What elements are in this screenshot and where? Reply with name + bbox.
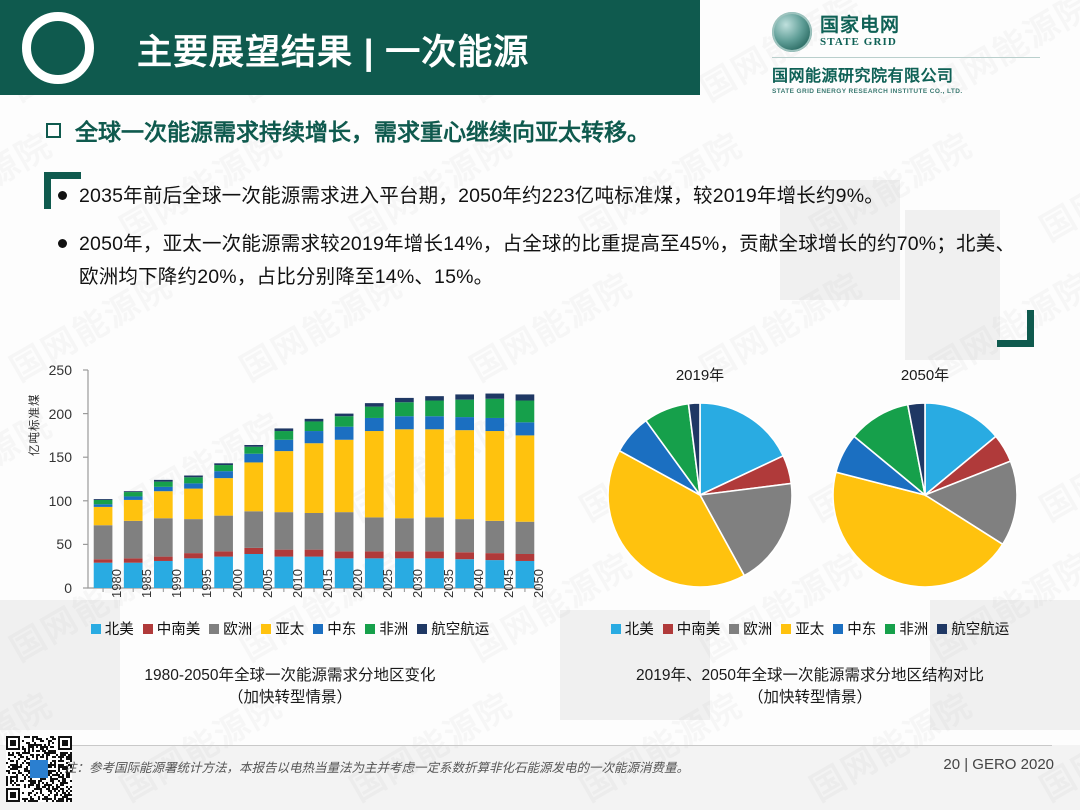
bar-segment-亚太: [365, 431, 384, 517]
bar-segment-欧洲: [425, 517, 444, 551]
bar-segment-中东: [184, 483, 203, 488]
x-tick-label: 2005: [260, 569, 275, 598]
bar-segment-航空航运: [214, 463, 233, 465]
legend-item-中南美: 中南美: [143, 618, 201, 639]
pie-title-2050: 2050年: [815, 364, 1035, 385]
bar-segment-中东: [275, 440, 294, 451]
bar-segment-欧洲: [214, 516, 233, 552]
bar-segment-中南美: [485, 553, 504, 560]
legend-label: 欧洲: [743, 618, 772, 639]
bar-segment-非洲: [365, 407, 384, 418]
bar-segment-非洲: [94, 500, 113, 504]
legend-label: 中南美: [157, 618, 201, 639]
bar-segment-亚太: [516, 435, 535, 521]
body-text-box: 2035年前后全球一次能源需求进入平台期，2050年约223亿吨标准煤，较201…: [44, 172, 1034, 347]
bar-segment-中东: [335, 427, 354, 440]
x-tick-label: 2015: [320, 569, 335, 598]
bar-segment-亚太: [395, 429, 414, 518]
list-item: 2050年，亚太一次能源需求较2019年增长14%，占全球的比重提高至45%，贡…: [58, 228, 1020, 295]
bar-segment-中南美: [455, 552, 474, 559]
bullet-list: 2035年前后全球一次能源需求进入平台期，2050年约223亿吨标准煤，较201…: [58, 180, 1020, 309]
slide-root: 国网能源院国网能源院国网能源院国网能源院国网能源院国网能源院国网能源院国网能源院…: [0, 0, 1080, 810]
legend-item-航空航运: 航空航运: [417, 618, 489, 639]
qr-code-icon: [6, 736, 72, 802]
lead-statement: 全球一次能源需求持续增长，需求重心继续向亚太转移。: [46, 113, 650, 147]
bar-segment-非洲: [335, 416, 354, 426]
legend-item-欧洲: 欧洲: [209, 618, 252, 639]
legend-swatch-icon: [261, 624, 271, 634]
legend-swatch-icon: [143, 624, 153, 634]
x-tick-label: 2050: [531, 569, 546, 598]
legend-item-亚太: 亚太: [261, 618, 304, 639]
bar-segment-非洲: [275, 431, 294, 440]
bar-segment-欧洲: [154, 518, 173, 556]
x-tick-label: 1980: [109, 569, 124, 598]
bar-segment-亚太: [485, 431, 504, 521]
legend-label: 中南美: [677, 618, 721, 639]
bar-segment-中南美: [305, 550, 324, 557]
bar-segment-航空航运: [154, 480, 173, 482]
legend-label: 非洲: [379, 618, 408, 639]
bar-segment-中南美: [516, 554, 535, 561]
bar-segment-非洲: [154, 482, 173, 487]
bar-segment-中南美: [275, 550, 294, 557]
legend-swatch-icon: [781, 624, 791, 634]
bar-segment-中南美: [124, 558, 143, 562]
legend-swatch-icon: [91, 624, 101, 634]
bar-segment-航空航运: [305, 419, 324, 422]
bar-segment-航空航运: [455, 394, 474, 399]
legend-item-非洲: 非洲: [885, 618, 928, 639]
legend-swatch-icon: [663, 624, 673, 634]
bar-segment-中东: [154, 487, 173, 491]
bar-segment-亚太: [94, 507, 113, 525]
legend-label: 亚太: [275, 618, 304, 639]
legend-label: 航空航运: [951, 618, 1009, 639]
x-tick-label: 2030: [410, 569, 425, 598]
legend-label: 中东: [847, 618, 876, 639]
bar-segment-中南美: [154, 557, 173, 561]
bar-segment-中东: [124, 496, 143, 499]
bar-segment-中南美: [365, 551, 384, 558]
bar-segment-欧洲: [184, 519, 203, 553]
legend-label: 北美: [625, 618, 654, 639]
bar-segment-欧洲: [275, 512, 294, 549]
bar-segment-亚太: [154, 491, 173, 518]
bar-segment-航空航运: [335, 414, 354, 417]
legend-label: 非洲: [899, 618, 928, 639]
bar-segment-欧洲: [124, 521, 143, 558]
legend-label: 亚太: [795, 618, 824, 639]
legend-label: 航空航运: [431, 618, 489, 639]
logo-primary-row: 国家电网 STATE GRID: [772, 12, 1062, 52]
bar-chart-caption: 1980-2050年全球一次能源需求分地区变化 （加快转型情景）: [30, 665, 550, 710]
bar-segment-欧洲: [516, 522, 535, 554]
watermark-text: 国网能源院: [1030, 118, 1080, 250]
bar-segment-非洲: [305, 421, 324, 431]
pie-chart-2019: [590, 390, 810, 605]
corner-bracket-top-left: [44, 172, 81, 209]
legend-swatch-icon: [833, 624, 843, 634]
bar-segment-中东: [455, 417, 474, 430]
bar-segment-非洲: [214, 465, 233, 471]
bar-segment-欧洲: [305, 513, 324, 550]
legend-label: 中东: [327, 618, 356, 639]
logo-divider: [772, 57, 1040, 58]
legend-swatch-icon: [417, 624, 427, 634]
bar-segment-欧洲: [395, 518, 414, 551]
x-tick-label: 2045: [501, 569, 516, 598]
bar-segment-航空航运: [244, 445, 263, 447]
bar-segment-中东: [305, 431, 324, 443]
bar-caption-line1: 1980-2050年全球一次能源需求分地区变化: [30, 665, 550, 687]
bar-segment-航空航运: [485, 394, 504, 399]
header-ring-decoration: [22, 12, 94, 84]
legend-label: 欧洲: [223, 618, 252, 639]
x-tick-label: 1985: [139, 569, 154, 598]
bar-segment-非洲: [184, 477, 203, 483]
bar-segment-中东: [365, 418, 384, 431]
bar-segment-非洲: [516, 401, 535, 423]
logo-name-cn: 国家电网: [820, 16, 900, 36]
legend-item-欧洲: 欧洲: [729, 618, 772, 639]
bar-segment-中南美: [214, 551, 233, 556]
legend-item-中东: 中东: [833, 618, 876, 639]
bar-segment-欧洲: [244, 511, 263, 548]
bar-segment-航空航运: [184, 476, 203, 478]
lead-statement-text: 全球一次能源需求持续增长，需求重心继续向亚太转移。: [75, 113, 650, 147]
legend-item-航空航运: 航空航运: [937, 618, 1009, 639]
pie-charts-panel: 2019年 2050年 北美中南美欧洲亚太中东非洲航空航运 2019年、2050…: [560, 360, 1060, 665]
bullet-text: 2035年前后全球一次能源需求进入平台期，2050年约223亿吨标准煤，较201…: [79, 180, 884, 214]
pie-caption-line2: （加快转型情景）: [560, 687, 1060, 709]
stacked-bar-chart: 亿吨标准煤 050100150200250 198019851990199520…: [30, 360, 550, 665]
bar-segment-非洲: [485, 399, 504, 418]
x-tick-label: 2000: [230, 569, 245, 598]
legend-swatch-icon: [937, 624, 947, 634]
bar-segment-中东: [485, 418, 504, 431]
square-bullet-icon: [46, 123, 61, 138]
legend-swatch-icon: [313, 624, 323, 634]
legend-label: 北美: [105, 618, 134, 639]
page-number: 20 | GERO 2020: [943, 756, 1054, 773]
bar-segment-中南美: [395, 551, 414, 558]
legend-swatch-icon: [729, 624, 739, 634]
bar-segment-亚太: [244, 462, 263, 511]
bar-segment-欧洲: [335, 512, 354, 551]
pie-title-2019: 2019年: [590, 364, 810, 385]
legend-item-亚太: 亚太: [781, 618, 824, 639]
bar-segment-航空航运: [395, 398, 414, 402]
legend-item-中南美: 中南美: [663, 618, 721, 639]
bar-segment-亚太: [124, 500, 143, 521]
bar-segment-亚太: [275, 451, 294, 512]
legend-item-中东: 中东: [313, 618, 356, 639]
bar-segment-欧洲: [485, 521, 504, 553]
legend-item-北美: 北美: [611, 618, 654, 639]
bar-segment-欧洲: [365, 517, 384, 551]
bar-segment-航空航运: [124, 491, 143, 492]
state-grid-logo: 国家电网 STATE GRID 国网能源研究院有限公司 STATE GRID E…: [772, 12, 1062, 94]
legend-swatch-icon: [611, 624, 621, 634]
x-tick-label: 2035: [441, 569, 456, 598]
bar-segment-中东: [94, 504, 113, 507]
pie-chart-2050: [815, 390, 1035, 605]
legend-item-非洲: 非洲: [365, 618, 408, 639]
bar-segment-航空航运: [516, 394, 535, 400]
bar-segment-非洲: [395, 402, 414, 416]
bar-segment-中东: [425, 416, 444, 429]
charts-region: 亿吨标准煤 050100150200250 198019851990199520…: [0, 360, 1080, 730]
pie-chart-caption: 2019年、2050年全球一次能源需求分地区结构对比 （加快转型情景）: [560, 665, 1060, 710]
bar-segment-中南美: [94, 559, 113, 562]
page-title: 主要展望结果 | 一次能源: [137, 24, 529, 75]
legend-swatch-icon: [209, 624, 219, 634]
x-tick-label: 2040: [471, 569, 486, 598]
list-item: 2035年前后全球一次能源需求进入平台期，2050年约223亿吨标准煤，较201…: [58, 180, 1020, 214]
bg-block: [0, 745, 1080, 810]
x-tick-label: 2020: [350, 569, 365, 598]
bar-chart-legend: 北美中南美欧洲亚太中东非洲航空航运: [30, 618, 550, 639]
legend-item-北美: 北美: [91, 618, 134, 639]
bar-segment-中南美: [425, 551, 444, 558]
bar-segment-亚太: [184, 489, 203, 520]
legend-swatch-icon: [365, 624, 375, 634]
bar-segment-亚太: [305, 443, 324, 513]
bar-caption-line2: （加快转型情景）: [30, 687, 550, 709]
bar-segment-航空航运: [425, 396, 444, 400]
corner-bracket-bottom-right: [997, 310, 1034, 347]
x-tick-label: 1995: [199, 569, 214, 598]
bar-segment-中南美: [244, 548, 263, 554]
legend-swatch-icon: [885, 624, 895, 634]
bar-segment-中南美: [335, 551, 354, 558]
bar-segment-非洲: [455, 400, 474, 417]
x-tick-label: 2010: [290, 569, 305, 598]
bar-segment-亚太: [455, 430, 474, 519]
bar-segment-中南美: [184, 553, 203, 558]
bar-segment-中东: [244, 454, 263, 463]
bullet-text: 2050年，亚太一次能源需求较2019年增长14%，占全球的比重提高至45%，贡…: [79, 228, 1020, 295]
footer-divider: [62, 745, 1052, 746]
bar-segment-中东: [214, 471, 233, 478]
bar-segment-非洲: [425, 401, 444, 417]
bar-segment-亚太: [335, 440, 354, 512]
state-grid-globe-icon: [772, 12, 812, 52]
bar-segment-中东: [395, 416, 414, 429]
institute-name-cn: 国网能源研究院有限公司: [772, 62, 1062, 86]
bar-segment-航空航运: [275, 428, 294, 431]
institute-name-en: STATE GRID ENERGY RESEARCH INSTITUTE CO.…: [772, 88, 1062, 95]
bar-segment-非洲: [244, 447, 263, 454]
bar-segment-亚太: [425, 429, 444, 517]
bar-segment-欧洲: [455, 519, 474, 552]
bar-segment-非洲: [124, 492, 143, 496]
pie-charts-legend: 北美中南美欧洲亚太中东非洲航空航运: [560, 618, 1060, 639]
footnote-text: 注：参考国际能源署统计方法，本报告以电热当量法为主并考虑一定系数折算非化石能源发…: [64, 757, 689, 776]
bullet-dot-icon: [58, 239, 67, 248]
logo-name-en: STATE GRID: [820, 36, 900, 48]
bar-segment-航空航运: [365, 403, 384, 406]
bar-segment-航空航运: [94, 499, 113, 500]
x-tick-label: 1990: [169, 569, 184, 598]
bar-segment-中东: [516, 422, 535, 435]
bar-segment-亚太: [214, 478, 233, 515]
x-tick-label: 2025: [380, 569, 395, 598]
pie-caption-line1: 2019年、2050年全球一次能源需求分地区结构对比: [560, 665, 1060, 687]
bar-segment-欧洲: [94, 525, 113, 559]
